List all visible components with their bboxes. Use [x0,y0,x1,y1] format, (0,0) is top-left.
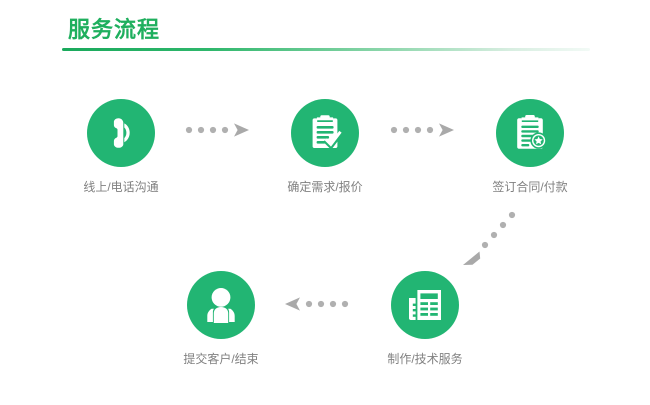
arrow-right-dotted-icon [185,122,251,138]
flow-step-4[interactable]: 制作/技术服务 [365,271,485,367]
arrow-right-dotted-icon [390,122,456,138]
flow-step-5[interactable]: 提交客户/结束 [161,271,281,367]
service-flow-page: 服务流程 线上/电话沟通 [0,0,650,405]
flow-step-4-label: 制作/技术服务 [365,351,485,367]
flow-step-3-circle [496,99,564,167]
flow-step-1[interactable]: 线上/电话沟通 [61,99,181,195]
page-title: 服务流程 [68,16,160,44]
flow-connector-1 [185,122,251,138]
arrow-down-left-dotted-icon [455,207,523,273]
page-header: 服务流程 [0,0,650,60]
document-list-icon [405,285,445,325]
flow-step-3[interactable]: 签订合同/付款 [470,99,590,195]
flow-step-3-label: 签订合同/付款 [470,179,590,195]
flow-connector-2 [390,122,456,138]
flow-diagram: 线上/电话沟通 确定需求/报 [0,60,650,405]
arrow-left-dotted-icon [283,296,349,312]
title-underline-rule [62,48,590,51]
flow-step-1-circle [87,99,155,167]
flow-step-2-circle [291,99,359,167]
phone-icon [101,113,141,153]
flow-step-5-circle [187,271,255,339]
contract-star-icon [509,112,551,154]
clipboard-check-icon [304,112,346,154]
user-icon [200,284,242,326]
flow-step-2[interactable]: 确定需求/报价 [265,99,385,195]
flow-step-5-label: 提交客户/结束 [161,351,281,367]
flow-connector-3 [455,207,523,273]
flow-connector-4 [283,296,349,312]
flow-step-4-circle [391,271,459,339]
flow-step-1-label: 线上/电话沟通 [61,179,181,195]
flow-step-2-label: 确定需求/报价 [265,179,385,195]
